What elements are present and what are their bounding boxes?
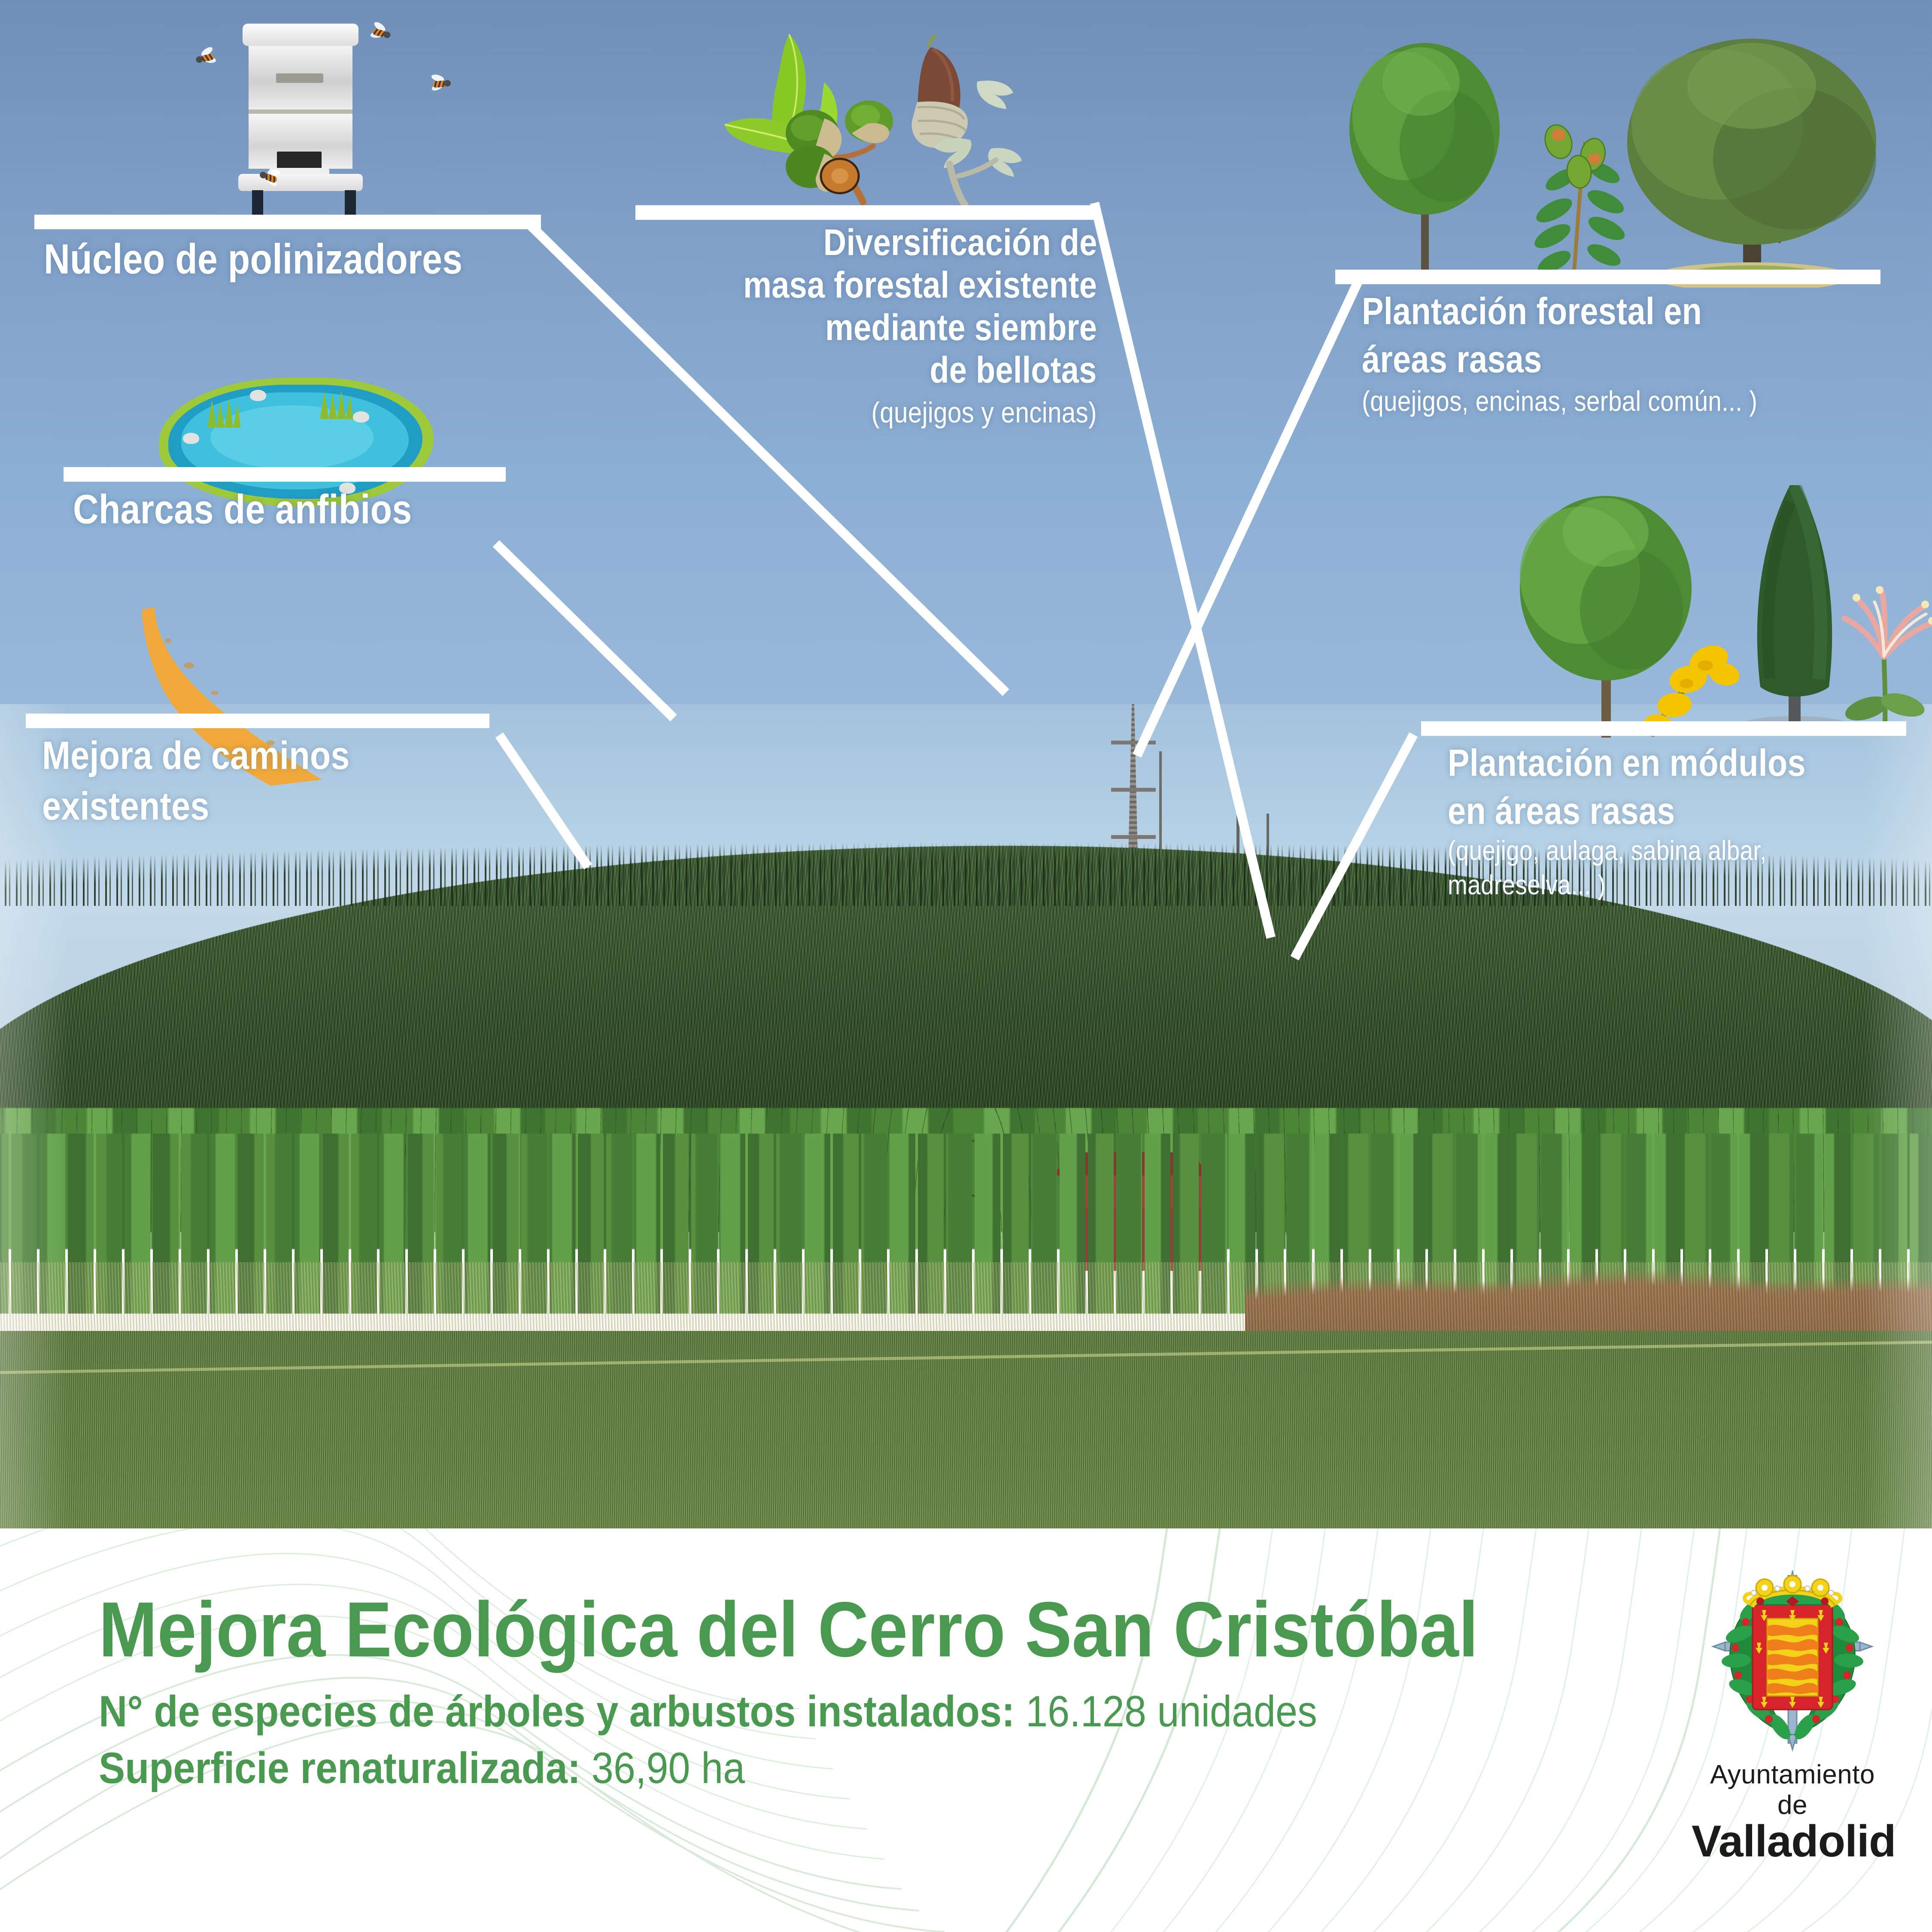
logo-line-1: Ayuntamiento de: [1692, 1759, 1893, 1820]
callout-title-modulos-line1: Plantación en módulos: [1448, 743, 1928, 783]
callout-title-charcas: Charcas de anfibios: [73, 488, 590, 532]
callout-title-forestal-line1: Plantación forestal en: [1362, 291, 1879, 331]
valladolid-coat-of-arms-icon: [1692, 1550, 1893, 1752]
callout-bar: [1421, 721, 1906, 736]
callout-bar: [26, 714, 489, 728]
photo-left-fade: [0, 704, 69, 1563]
page-title: Mejora Ecológica del Cerro San Cristóbal: [99, 1584, 1478, 1674]
photo-right-fade: [1863, 704, 1932, 1563]
callout-subtitle-modulos-line1: (quejigo, aulaga, sabina albar,: [1448, 836, 1928, 866]
callout-title-forestal-line2: áreas rasas: [1362, 339, 1879, 379]
callout-subtitle-modulos-line2: madreselva... ): [1448, 871, 1928, 900]
callout-title-diversificacion-line1: Diversificación de: [823, 223, 1097, 262]
callout-bar: [64, 467, 506, 482]
callout-title-modulos-line2: en áreas rasas: [1448, 791, 1928, 831]
trees-group-icon: [1297, 30, 1919, 288]
callout-title-diversificacion-line4: de bellotas: [930, 351, 1097, 390]
callout-subtitle-diversificacion: (quejigos y encinas): [872, 397, 1097, 428]
stat-row-surface: Superficie renaturalizada: 36,90 ha: [99, 1743, 745, 1793]
callout-bar: [1335, 270, 1880, 284]
callout-title-caminos-line2: existentes: [42, 786, 559, 828]
beehive-icon: [243, 24, 367, 225]
stat-label-surface: Superficie renaturalizada:: [99, 1744, 580, 1792]
callout-bar: [635, 205, 1095, 220]
stat-value-species: 16.128 unidades: [1026, 1687, 1317, 1736]
acorns-icon: [696, 4, 1030, 206]
logo-line-2: Valladolid: [1692, 1816, 1893, 1867]
callout-bar: [34, 215, 541, 229]
infographic-poster: Núcleo de polinizadores Charcas de anfib…: [0, 0, 1932, 1932]
callout-title-diversificacion-line2: masa forestal existente: [743, 266, 1097, 305]
callout-title-diversificacion-line3: mediante siembre: [825, 308, 1097, 347]
valladolid-logo: Ayuntamiento de Valladolid: [1692, 1550, 1893, 1816]
green-crop-field: [0, 1331, 1932, 1563]
stat-row-species: N° de especies de árboles y arbustos ins…: [99, 1686, 1317, 1737]
callout-title-nucleo: Núcleo de polinizadores: [44, 237, 598, 282]
bee-icon: [429, 76, 453, 91]
landscape-photo: [0, 704, 1932, 1563]
callout-subtitle-forestal: (quejigos, encinas, serbal común... ): [1362, 386, 1879, 416]
callout-title-caminos-line1: Mejora de caminos: [42, 735, 559, 777]
stat-label-species: N° de especies de árboles y arbustos ins…: [99, 1687, 1015, 1736]
trees-shrubs-icon: [1451, 485, 1932, 738]
stat-value-surface: 36,90 ha: [592, 1744, 745, 1792]
footer-panel: Mejora Ecológica del Cerro San Cristóbal…: [0, 1528, 1932, 1932]
